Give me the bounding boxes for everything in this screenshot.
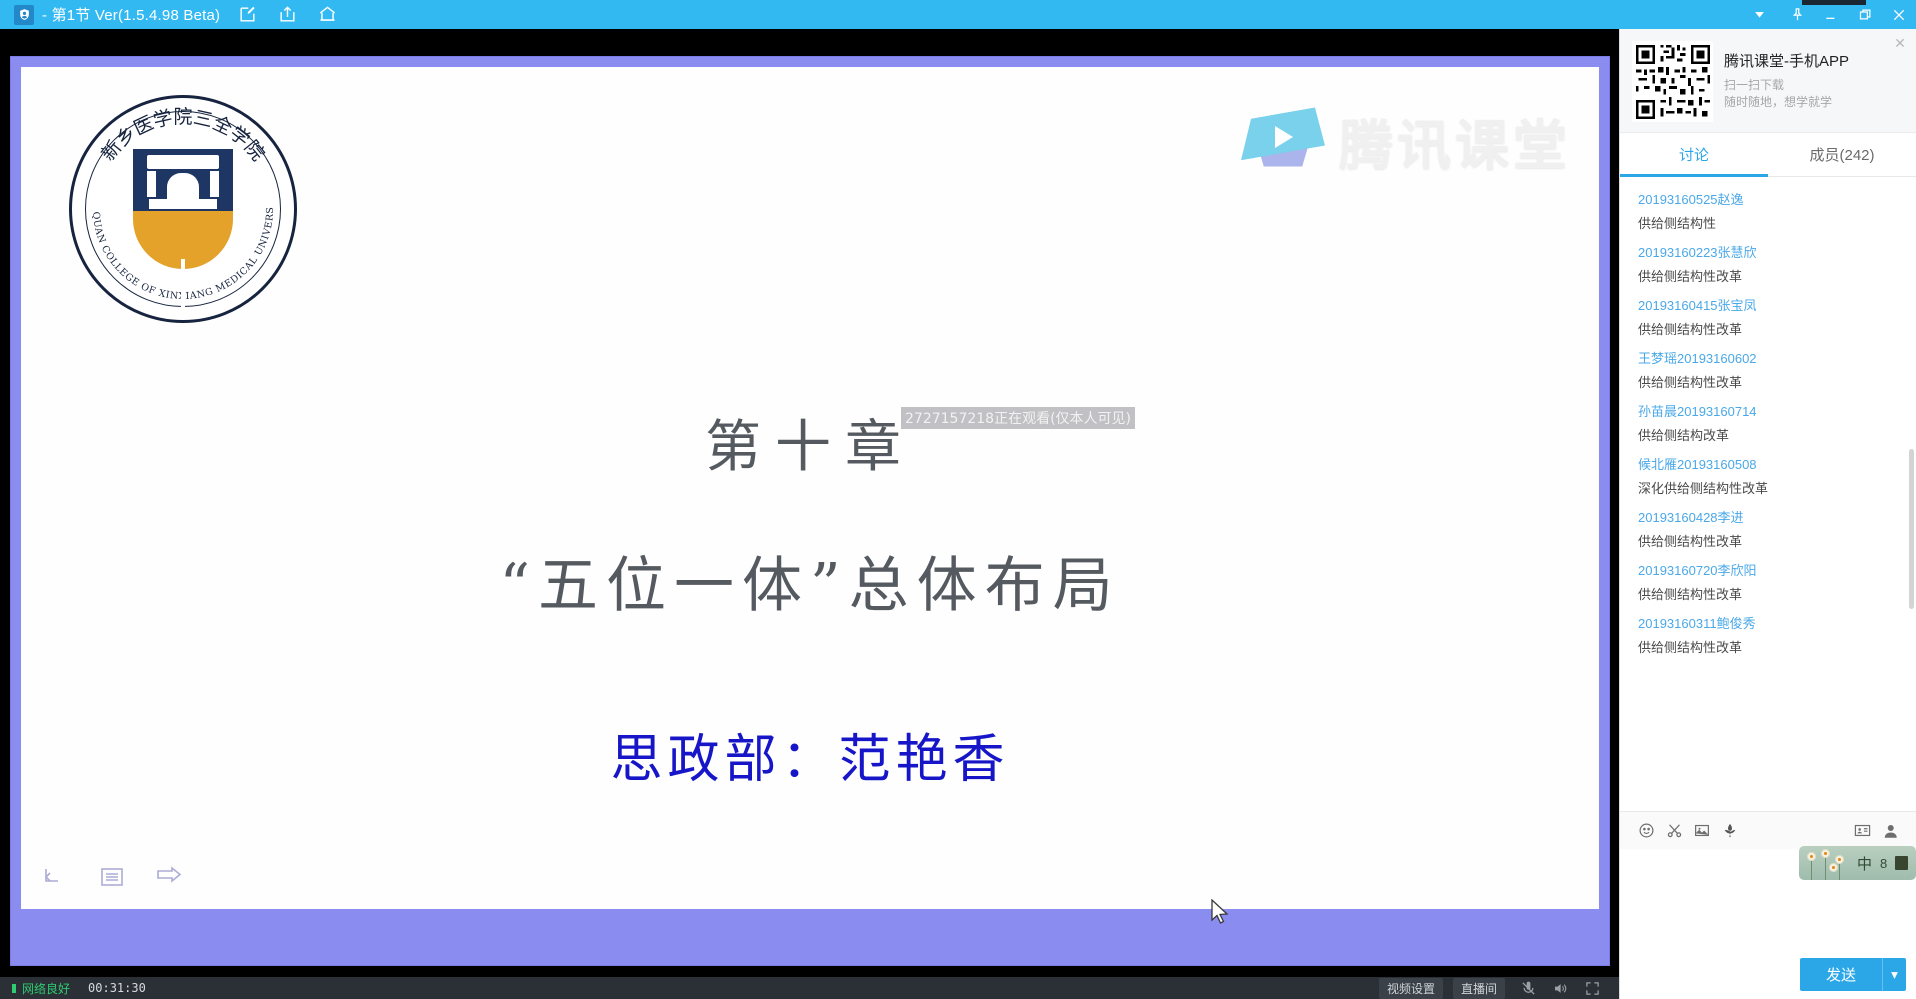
message-author[interactable]: 20193160311鲍俊秀 (1638, 613, 1900, 632)
scissors-icon[interactable] (1660, 819, 1688, 843)
ime-floating-bar[interactable]: 中 8 (1799, 846, 1916, 880)
close-icon[interactable] (1882, 0, 1916, 29)
qr-code-image (1632, 41, 1712, 121)
message-body: 供给侧结构性改革 (1638, 531, 1900, 550)
message-body: 供给侧结构性改革 (1638, 266, 1900, 285)
card-icon[interactable] (1848, 819, 1876, 843)
list-item: 王梦瑶20193160602 供给侧结构性改革 (1620, 345, 1916, 398)
message-author[interactable]: 20193160415张宝凤 (1638, 295, 1900, 314)
chat-message-list[interactable]: 20193160525赵逸 供给侧结构性 20193160223张慧欣 供给侧结… (1620, 178, 1916, 849)
list-item: 候北雁20193160508 深化供给侧结构性改革 (1620, 451, 1916, 504)
promo-sub-1: 扫一扫下载 (1724, 77, 1849, 94)
live-room-button[interactable]: 直播间 (1453, 978, 1505, 999)
list-item: 20193160525赵逸 供给侧结构性 (1620, 186, 1916, 239)
slide-chapter-title: 第十章 (21, 402, 1599, 483)
person-icon[interactable] (1876, 819, 1904, 843)
next-slide-icon[interactable] (155, 866, 185, 892)
mobile-app-promo: 腾讯课堂-手机APP 扫一扫下载 随时随地，想学就学 ✕ (1620, 29, 1916, 133)
shield-emblem-icon: SINCE 2003 (133, 149, 233, 269)
window-title: - 第1节 Ver(1.5.4.98 Beta) (42, 4, 220, 25)
chevron-down-icon[interactable] (1742, 0, 1776, 29)
flower-icon[interactable] (1716, 819, 1744, 843)
edit-icon[interactable] (234, 4, 260, 26)
slide-presenter: 思政部：范艳香 (21, 717, 1599, 792)
speaker-icon[interactable] (1547, 981, 1573, 996)
ime-decoration-icon (1799, 846, 1855, 880)
message-body: 深化供给侧结构性改革 (1638, 478, 1900, 497)
close-icon[interactable]: ✕ (1892, 35, 1908, 51)
ime-mode-icon[interactable] (1895, 856, 1908, 870)
message-author[interactable]: 20193160720李欣阳 (1638, 560, 1900, 579)
ime-number-label[interactable]: 8 (1880, 856, 1887, 871)
send-button[interactable]: 发送 (1800, 958, 1882, 991)
list-item: 20193160428李进 供给侧结构性改革 (1620, 504, 1916, 557)
share-icon[interactable] (274, 4, 300, 26)
logo-since-text: SINCE 2003 (133, 277, 233, 285)
send-row: 发送 ▾ (1800, 958, 1906, 991)
previous-slide-icon[interactable] (43, 866, 73, 892)
microphone-muted-icon[interactable] (1515, 981, 1541, 996)
image-icon[interactable] (1688, 819, 1716, 843)
message-body: 供给侧结构性改革 (1638, 637, 1900, 656)
message-author[interactable]: 孙苗晨20193160714 (1638, 401, 1900, 420)
message-body: 供给侧结构性改革 (1638, 319, 1900, 338)
slide-frame: 新乡医学院三全学院 SANQUAN COLLEGE OF XINXIANG ME… (10, 56, 1610, 966)
message-author[interactable]: 王梦瑶20193160602 (1638, 348, 1900, 367)
promo-sub-2: 随时随地，想学就学 (1724, 94, 1849, 111)
tab-discussion[interactable]: 讨论 (1620, 133, 1768, 176)
message-author[interactable]: 20193160223张慧欣 (1638, 242, 1900, 261)
message-body: 供给侧结构性改革 (1638, 372, 1900, 391)
tab-members[interactable]: 成员(242) (1768, 133, 1916, 176)
fullscreen-icon[interactable] (1579, 981, 1605, 996)
video-stage[interactable]: 新乡医学院三全学院 SANQUAN COLLEGE OF XINXIANG ME… (0, 29, 1619, 999)
network-status-label: 网络良好 (22, 980, 70, 997)
emoji-icon[interactable] (1632, 819, 1660, 843)
status-bar: 网络良好 00:31:30 视频设置 直播间 (0, 977, 1619, 999)
home-icon[interactable] (314, 4, 340, 26)
slide-main-title: “五位一体”总体布局 (21, 537, 1599, 624)
list-item: 20193160415张宝凤 供给侧结构性改革 (1620, 292, 1916, 345)
compose-toolbar (1620, 811, 1916, 849)
message-author[interactable]: 候北雁20193160508 (1638, 454, 1900, 473)
ime-language-label[interactable]: 中 (1857, 853, 1872, 874)
message-author[interactable]: 20193160525赵逸 (1638, 189, 1900, 208)
message-body: 供给侧结构改革 (1638, 425, 1900, 444)
app-shield-icon (14, 5, 34, 25)
message-author[interactable]: 20193160428李进 (1638, 507, 1900, 526)
graduation-cap-icon (1241, 111, 1325, 171)
send-options-chevron-icon[interactable]: ▾ (1882, 958, 1906, 991)
university-logo-icon: 新乡医学院三全学院 SANQUAN COLLEGE OF XINXIANG ME… (69, 95, 297, 323)
elapsed-time-label: 00:31:30 (88, 981, 146, 995)
ppt-controls[interactable] (43, 859, 185, 899)
video-settings-button[interactable]: 视频设置 (1379, 978, 1443, 999)
watermark-text: 腾讯课堂 (1339, 101, 1571, 180)
titlebar-notch (1802, 0, 1866, 5)
slide-canvas: 新乡医学院三全学院 SANQUAN COLLEGE OF XINXIANG ME… (21, 67, 1599, 909)
title-bar: - 第1节 Ver(1.5.4.98 Beta) (0, 0, 1916, 29)
list-item: 20193160311鲍俊秀 供给侧结构性改革 (1620, 610, 1916, 663)
chat-scrollbar[interactable] (1909, 449, 1914, 609)
list-item: 20193160223张慧欣 供给侧结构性改革 (1620, 239, 1916, 292)
promo-text-block: 腾讯课堂-手机APP 扫一扫下载 随时随地，想学就学 (1724, 50, 1849, 112)
message-body: 供给侧结构性改革 (1638, 584, 1900, 603)
list-item: 孙苗晨20193160714 供给侧结构改革 (1620, 398, 1916, 451)
list-item: 20193160720李欣阳 供给侧结构性改革 (1620, 557, 1916, 610)
promo-title: 腾讯课堂-手机APP (1724, 50, 1849, 71)
tencent-classroom-watermark: 腾讯课堂 (1241, 101, 1571, 180)
message-body: 供给侧结构性 (1638, 213, 1900, 232)
network-signal-icon (12, 984, 16, 993)
slide-menu-icon[interactable] (99, 866, 129, 892)
panel-tabs: 讨论 成员(242) (1620, 133, 1916, 177)
